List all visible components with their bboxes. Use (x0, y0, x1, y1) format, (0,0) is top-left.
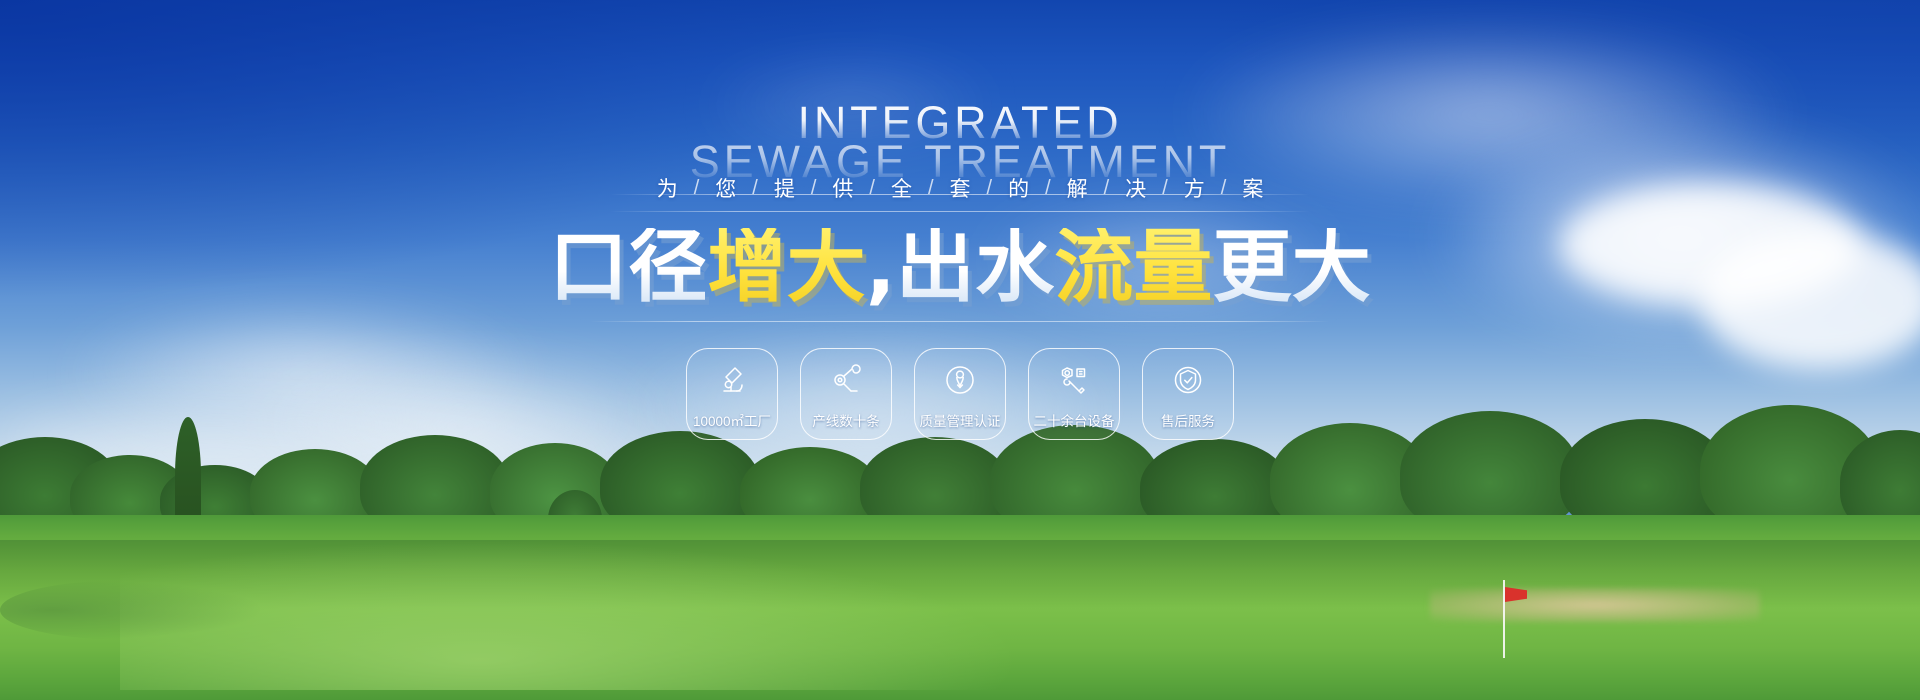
subtitle-char: 的 (1006, 173, 1031, 203)
subtitle-separator: / (680, 177, 714, 200)
feature-badge-quality-cert[interactable]: 质量管理认证 (914, 348, 1006, 440)
subtitle-separator: / (1207, 177, 1241, 200)
feature-badge-label: 10000㎡工厂 (693, 410, 771, 430)
feature-badge-list: 10000㎡工厂 产线数十条 (686, 348, 1234, 440)
feature-badge-production-line[interactable]: 产线数十条 (800, 348, 892, 440)
subtitle-char: 您 (713, 173, 738, 203)
subtitle-separator: / (855, 177, 889, 200)
feature-badge-label: 售后服务 (1161, 410, 1215, 430)
subtitle-separator: / (914, 177, 948, 200)
feature-badge-label: 产线数十条 (812, 410, 880, 430)
feature-badge-label: 质量管理认证 (920, 410, 1001, 430)
headline: 口径 增大 , 出水 流量 更大 (549, 228, 1371, 307)
feature-badge-after-sales[interactable]: 售后服务 (1142, 348, 1234, 440)
subtitle-char: 提 (772, 173, 797, 203)
hero-banner: INTEGRATED SEWAGE TREATMENT 为 / 您 / 提 / … (0, 0, 1920, 700)
headline-part-3: 出水 (896, 228, 1054, 307)
shield-check-icon (1171, 363, 1205, 397)
headline-part-2: 增大 (707, 228, 865, 307)
subtitle-char: 方 (1182, 173, 1207, 203)
feature-badge-factory[interactable]: 10000㎡工厂 (686, 348, 778, 440)
headline-part-1: 口径 (549, 228, 707, 307)
subtitle-separator: / (1148, 177, 1182, 200)
subtitle-separator: / (797, 177, 831, 200)
production-line-icon (829, 363, 863, 397)
feature-badge-label: 二十余台设备 (1034, 410, 1115, 430)
subtitle-char: 案 (1240, 173, 1265, 203)
subtitle-char: 全 (889, 173, 914, 203)
subtitle-separator: / (973, 177, 1007, 200)
subtitle-separator: / (1031, 177, 1065, 200)
subtitle-separator: / (1090, 177, 1124, 200)
headline-bottom-rule (590, 321, 1330, 322)
headline-part-4: 流量 (1054, 228, 1212, 307)
english-heading-group: INTEGRATED SEWAGE TREATMENT (690, 100, 1230, 184)
headline-comma: , (866, 228, 896, 307)
subtitle-char: 决 (1123, 173, 1148, 203)
subtitle-separator: / (738, 177, 772, 200)
wrench-bolt-icon (1057, 363, 1091, 397)
subtitle-char: 为 (655, 173, 680, 203)
feature-badge-equipment[interactable]: 二十余台设备 (1028, 348, 1120, 440)
certificate-badge-icon (943, 363, 977, 397)
subtitle-char: 供 (830, 173, 855, 203)
subtitle-block: 为 / 您 / 提 / 供 / 全 / 套 / 的 / 解 / 决 / 方 / (610, 184, 1310, 212)
subtitle-slash-row: 为 / 您 / 提 / 供 / 全 / 套 / 的 / 解 / 决 / 方 / (610, 173, 1310, 203)
banner-content: INTEGRATED SEWAGE TREATMENT 为 / 您 / 提 / … (0, 0, 1920, 700)
microscope-icon (715, 363, 749, 397)
subtitle-char: 解 (1065, 173, 1090, 203)
subtitle-bottom-rule (610, 211, 1310, 212)
subtitle-char: 套 (948, 173, 973, 203)
headline-part-5: 更大 (1213, 228, 1371, 307)
